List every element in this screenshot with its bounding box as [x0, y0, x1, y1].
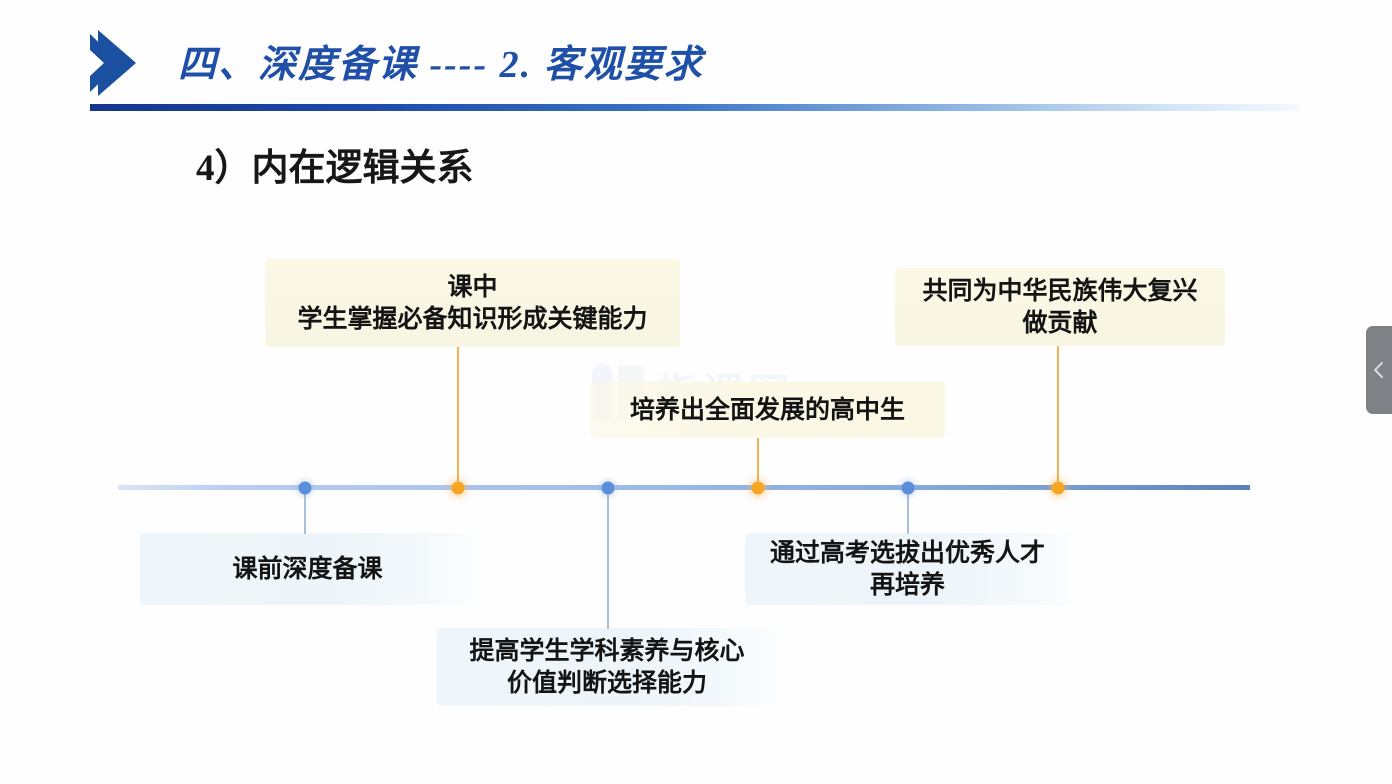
card-su-yang-text: 提高学生学科素养与核心 价值判断选择能力	[451, 635, 763, 700]
slide-canvas: 四、深度备课 ---- 2. 客观要求 4）内在逻辑关系 指课网 ZHIKE.C…	[0, 0, 1392, 784]
card-su-yang-line1: 提高学生学科素养与核心	[451, 635, 763, 668]
header-divider	[90, 104, 1300, 111]
panel-collapse-tab[interactable]	[1366, 326, 1392, 414]
card-fu-xing-line2: 做贡献	[909, 307, 1211, 340]
connector-su-yang	[607, 489, 609, 629]
timeline-dot-ke-qian[interactable]	[299, 482, 312, 495]
card-ke-zhong-line1: 课中	[279, 271, 666, 304]
card-pei-yang[interactable]: 培养出全面发展的高中生	[590, 382, 945, 438]
timeline-dot-pei-yang[interactable]	[752, 482, 765, 495]
timeline-dot-ke-zhong[interactable]	[452, 482, 465, 495]
card-ke-qian[interactable]: 课前深度备课	[140, 533, 475, 605]
card-ke-qian-line1: 课前深度备课	[154, 553, 461, 586]
card-su-yang[interactable]: 提高学生学科素养与核心 价值判断选择能力	[437, 628, 777, 706]
card-fu-xing-line1: 共同为中华民族伟大复兴	[909, 275, 1211, 308]
card-pei-yang-line1: 培养出全面发展的高中生	[604, 394, 931, 427]
connector-ke-zhong	[457, 347, 459, 486]
card-gao-kao-line1: 通过高考选拔出优秀人才	[759, 537, 1056, 570]
connector-gao-kao	[907, 489, 909, 534]
timeline-dot-gao-kao[interactable]	[902, 482, 915, 495]
card-gao-kao[interactable]: 通过高考选拔出优秀人才 再培养	[745, 533, 1070, 605]
card-fu-xing[interactable]: 共同为中华民族伟大复兴 做贡献	[895, 268, 1225, 346]
card-ke-qian-text: 课前深度备课	[154, 553, 461, 586]
chevron-right-icon	[90, 30, 152, 96]
card-gao-kao-line2: 再培养	[759, 569, 1056, 602]
page-title: 四、深度备课 ---- 2. 客观要求	[178, 33, 704, 88]
card-gao-kao-text: 通过高考选拔出优秀人才 再培养	[759, 537, 1056, 602]
card-ke-zhong-text: 课中 学生掌握必备知识形成关键能力	[279, 271, 666, 336]
section-subtitle: 4）内在逻辑关系	[196, 137, 474, 191]
connector-ke-qian	[304, 489, 306, 534]
timeline-axis	[118, 485, 1250, 490]
slide-header: 四、深度备课 ---- 2. 客观要求	[0, 0, 1392, 120]
card-ke-zhong-line2: 学生掌握必备知识形成关键能力	[279, 303, 666, 336]
card-su-yang-line2: 价值判断选择能力	[451, 667, 763, 700]
card-ke-zhong[interactable]: 课中 学生掌握必备知识形成关键能力	[265, 259, 680, 347]
timeline-dot-fu-xing[interactable]	[1052, 482, 1065, 495]
connector-pei-yang	[757, 438, 759, 487]
card-pei-yang-text: 培养出全面发展的高中生	[604, 394, 931, 427]
connector-fu-xing	[1057, 346, 1059, 487]
card-fu-xing-text: 共同为中华民族伟大复兴 做贡献	[909, 275, 1211, 340]
timeline-dot-su-yang[interactable]	[602, 482, 615, 495]
chevron-left-icon	[1373, 360, 1385, 380]
